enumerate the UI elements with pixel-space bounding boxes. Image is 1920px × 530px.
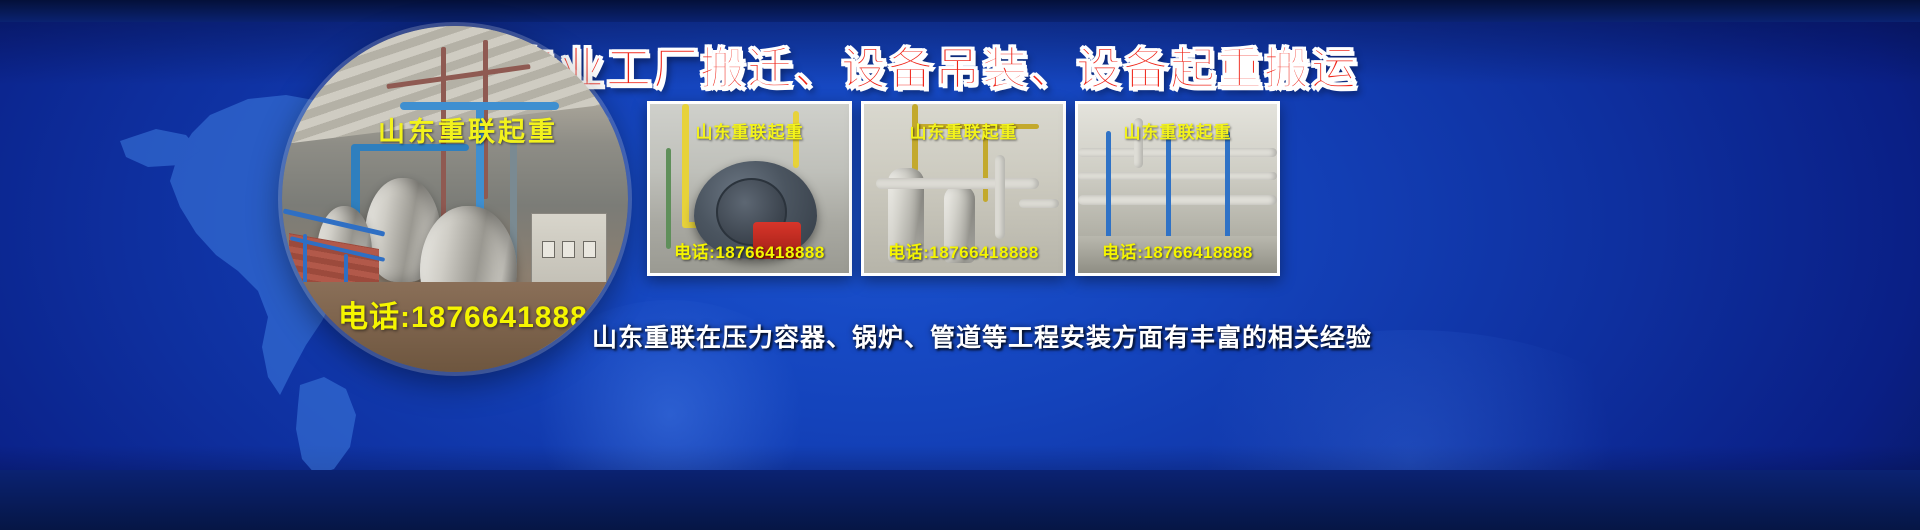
thumbnail-phone-label: 电话:18766418888 xyxy=(864,238,1063,263)
thumbnail-phone-label: 电话:18766418888 xyxy=(650,238,849,263)
thumbnail-watermark: 山东重联起重 xyxy=(650,118,849,143)
page-title: 专业工厂搬迁、设备吊装、设备起重搬运 xyxy=(512,32,1358,97)
bottom-band xyxy=(0,470,1920,530)
pipe xyxy=(876,178,1039,189)
promo-banner: 专业工厂搬迁、设备吊装、设备起重搬运 xyxy=(0,0,1920,530)
thumbnail-watermark: 山东重联起重 xyxy=(864,118,1063,143)
pipe xyxy=(666,148,671,249)
hero-phone-label: 电话:18766418888 xyxy=(338,292,606,336)
thumbnail-filters[interactable]: 山东重联起重 电话:18766418888 xyxy=(861,101,1066,276)
gauge xyxy=(583,241,596,258)
thumbnail-pipe-rack[interactable]: 山东重联起重 电话:18766418888 xyxy=(1075,101,1280,276)
hero-watermark: 山东重联起重 xyxy=(378,110,558,149)
top-band xyxy=(0,0,1920,22)
hero-circle-image: 山东重联起重 电话:18766418888 xyxy=(282,26,628,372)
thumbnail-phone-label: 电话:18766418888 xyxy=(1078,238,1277,263)
gauge xyxy=(562,241,575,258)
thumbnail-gallery: 山东重联起重 电话:18766418888 山东重联起重 电话:18766418… xyxy=(647,101,1280,276)
pipe xyxy=(1019,199,1059,208)
pipe xyxy=(995,155,1005,240)
support-column xyxy=(1166,131,1171,243)
banner-caption: 山东重联在压力容器、锅炉、管道等工程安装方面有丰富的相关经验 xyxy=(592,318,1372,354)
gauge xyxy=(542,241,555,258)
thumbnail-boiler[interactable]: 山东重联起重 电话:18766418888 xyxy=(647,101,852,276)
support-column xyxy=(1106,131,1111,243)
support-column xyxy=(1225,131,1230,243)
thumbnail-watermark: 山东重联起重 xyxy=(1078,118,1277,143)
